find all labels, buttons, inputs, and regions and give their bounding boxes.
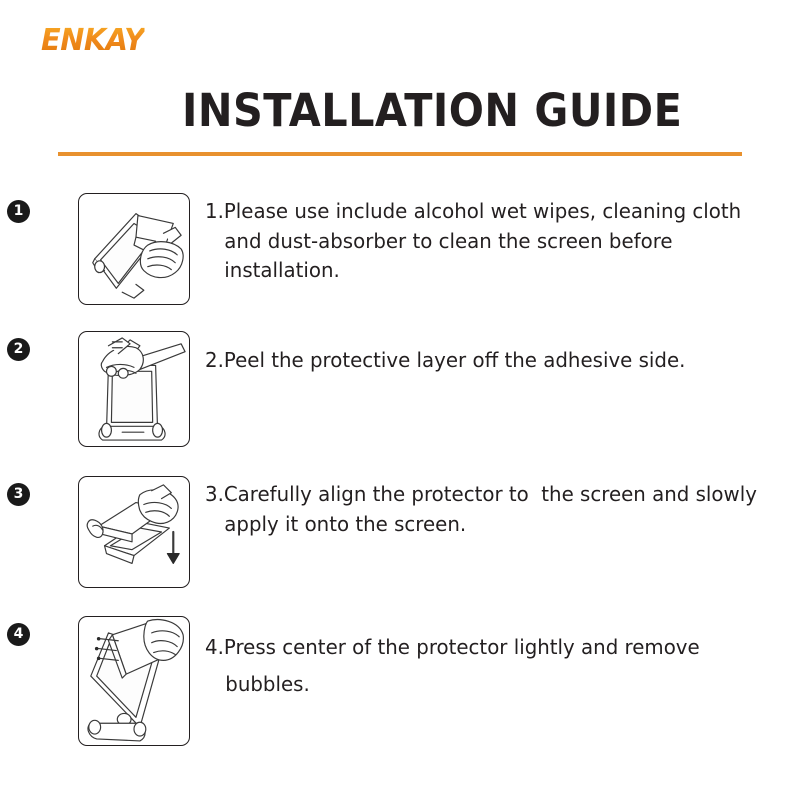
step-2-illustration <box>78 331 190 447</box>
title-divider <box>58 152 742 156</box>
installation-guide-page: ENKAY INSTALLATION GUIDE <box>0 0 800 800</box>
step-2-number: 2 <box>7 338 30 361</box>
step-2-text: 2.Peel the protective layer off the adhe… <box>205 346 745 376</box>
enkay-logo: ENKAY <box>41 25 145 57</box>
step-4-text: 4.Press center of the protector lightly … <box>205 629 766 703</box>
step-3-number: 3 <box>7 483 30 506</box>
step-1-number: 1 <box>7 200 30 223</box>
step-4-number: 4 <box>7 623 30 646</box>
step-4-illustration <box>78 616 190 746</box>
step-3-illustration <box>78 476 190 588</box>
step-1-illustration <box>78 193 190 305</box>
step-1-text: 1.Please use include alcohol wet wipes, … <box>205 197 765 286</box>
page-title: INSTALLATION GUIDE <box>182 86 682 136</box>
step-3-text: 3.Carefully align the protector to the s… <box>205 480 765 539</box>
